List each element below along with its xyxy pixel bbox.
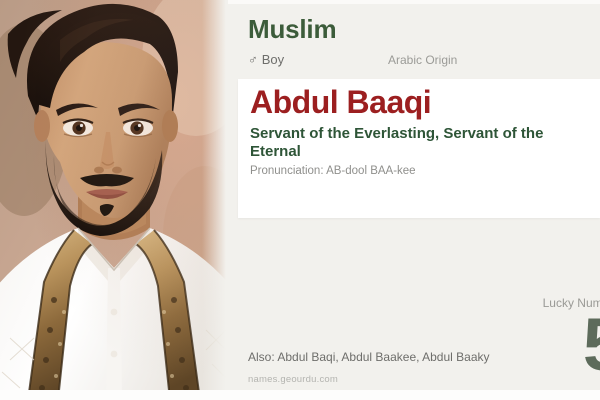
name-meaning: Servant of the Everlasting, Servant of t… [250,125,598,162]
site-watermark: names.geourdu.com [248,374,338,385]
lucky-number-label: Lucky Number [452,296,600,310]
gender-label: Boy [262,52,284,67]
name-card: Muslim ♂Boy Arabic Origin Abdul Baaqi Se… [0,0,600,400]
bottom-strip [0,390,600,400]
meta-row: ♂Boy Arabic Origin [248,52,598,70]
lucky-number-value: 5 [452,312,600,377]
portrait-photo [0,0,228,400]
pronunciation-text: Pronunciation: AB-dool BAA-kee [250,165,416,177]
details-panel: Muslim ♂Boy Arabic Origin Abdul Baaqi Se… [238,0,600,400]
name-info-card: Abdul Baaqi Servant of the Everlasting, … [238,79,600,218]
origin-label: Arabic Origin [388,53,457,67]
lucky-number-block: Lucky Number 5 [452,296,600,377]
alternate-spellings: Also: Abdul Baqi, Abdul Baakee, Abdul Ba… [248,350,490,364]
name-title: Abdul Baaqi [250,85,431,120]
religion-heading: Muslim [248,16,336,42]
portrait-photo-image [0,0,228,400]
male-symbol-icon: ♂ [248,52,258,67]
gender-meta: ♂Boy [248,52,284,67]
